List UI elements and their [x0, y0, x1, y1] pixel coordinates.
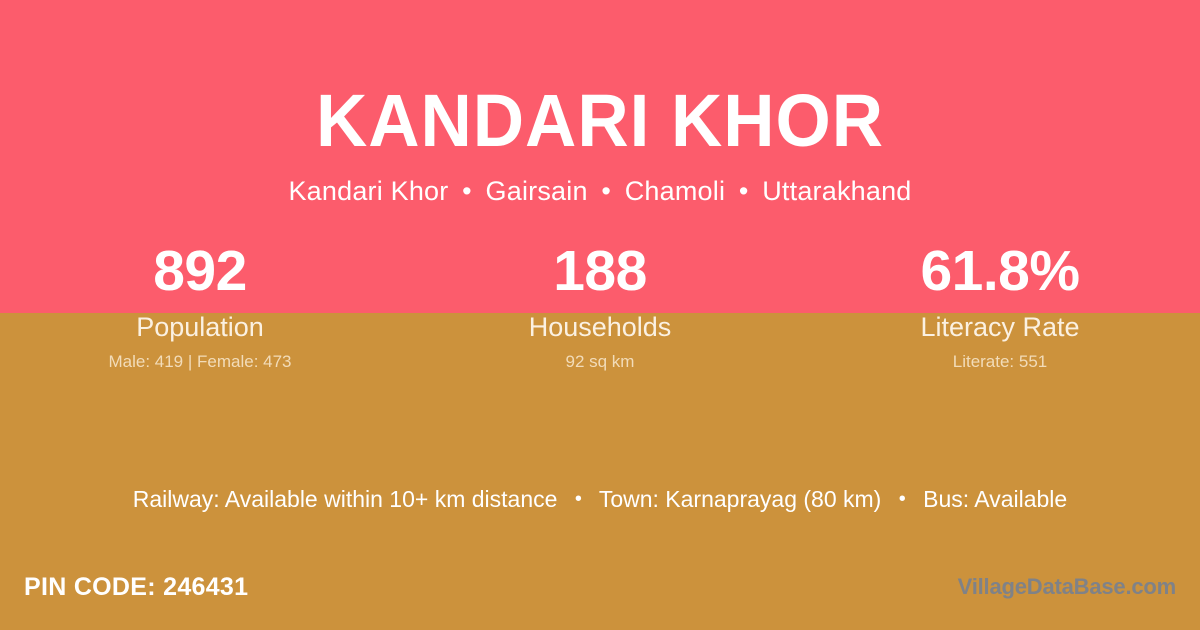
stat-label: Households	[400, 311, 800, 343]
breadcrumb-separator-3: •	[733, 176, 755, 206]
stat-sublabel: Literate: 551	[800, 352, 1200, 372]
stat-households: 188 Households 92 sq km	[400, 238, 800, 372]
infrastructure-line: Railway: Available within 10+ km distanc…	[0, 484, 1200, 516]
breadcrumb-separator-2: •	[595, 176, 617, 206]
infrastructure-town: Town: Karnaprayag (80 km)	[599, 486, 882, 512]
stat-label: Population	[0, 311, 400, 343]
card-footer: PIN CODE: 246431 VillageDataBase.com	[0, 570, 1200, 615]
page-title: KANDARI KHOR	[24, 0, 1176, 164]
breadcrumb-state: Uttarakhand	[762, 176, 911, 206]
stat-value: 61.8%	[800, 238, 1200, 304]
infrastructure-railway: Railway: Available within 10+ km distanc…	[133, 486, 558, 512]
pin-code: PIN CODE: 246431	[24, 570, 248, 604]
stat-literacy-rate: 61.8% Literacy Rate Literate: 551	[800, 238, 1200, 372]
stat-population: 892 Population Male: 419 | Female: 473	[0, 238, 400, 372]
stat-value: 188	[400, 238, 800, 304]
stat-label: Literacy Rate	[800, 311, 1200, 343]
card-header: KANDARI KHOR Kandari Khor • Gairsain • C…	[0, 0, 1200, 208]
village-info-card: KANDARI KHOR Kandari Khor • Gairsain • C…	[0, 0, 1200, 630]
stat-sublabel: 92 sq km	[400, 352, 800, 372]
infrastructure-separator-2: •	[888, 488, 917, 510]
infrastructure-bus: Bus: Available	[923, 486, 1067, 512]
breadcrumb-separator-1: •	[456, 176, 478, 206]
stat-sublabel: Male: 419 | Female: 473	[0, 352, 400, 372]
breadcrumb-district: Chamoli	[625, 176, 725, 206]
site-brand: VillageDataBase.com	[958, 572, 1176, 602]
breadcrumb-block: Gairsain	[486, 176, 588, 206]
infrastructure-separator-1: •	[564, 488, 593, 510]
stats-row: 892 Population Male: 419 | Female: 473 1…	[0, 238, 1200, 372]
breadcrumb: Kandari Khor • Gairsain • Chamoli • Utta…	[0, 164, 1200, 208]
breadcrumb-village: Kandari Khor	[288, 176, 448, 206]
stat-value: 892	[0, 238, 400, 304]
